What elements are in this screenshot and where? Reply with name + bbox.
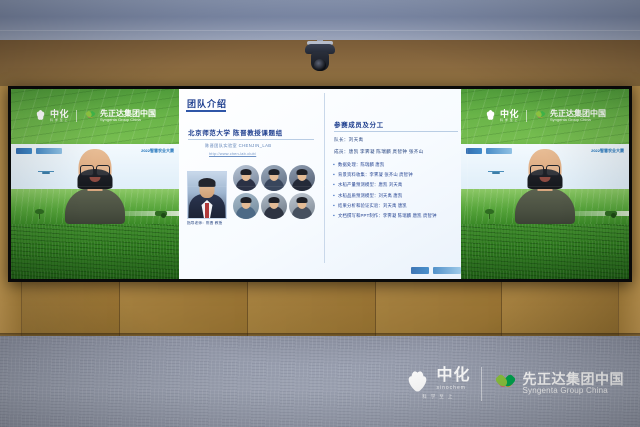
glasses-icon (80, 165, 110, 174)
member-photo-grid (233, 165, 319, 219)
brand-divider (526, 110, 527, 122)
syngenta-logo-icon: 先正达集团中国 Syngenta Group China (534, 109, 606, 122)
member-photo (261, 165, 287, 191)
advisor-block: 指导老师：陈晋 教授 (187, 171, 227, 219)
drone-icon (38, 171, 54, 175)
slide-footer-logos (411, 267, 461, 274)
lab-url[interactable]: http://www.chen-lab.club/ (209, 152, 256, 156)
feed-event-title-right: 2022智慧农业大赛 (591, 148, 624, 154)
tile-brand-bar-right: 中化 科 学 至 上 先正达集团中国 Syngenta Group China (461, 100, 629, 130)
tree-icon (35, 209, 44, 219)
participant-person-right (512, 144, 578, 224)
feed-event-title-left: 2022智慧农业大赛 (141, 148, 174, 154)
feed-logo-b-icon (486, 148, 512, 154)
sinochem-logo: 中化 sinochem 科 学 至 上 (405, 368, 470, 400)
syngenta-flower-icon (492, 371, 518, 397)
tile-brand-sub: 科 学 至 上 (500, 119, 519, 122)
brand-divider (76, 110, 77, 122)
task-item: ▪ 文档撰写和PPT制作：李霁凝 陈瑞麟 唐凯 庹智钟 (333, 214, 465, 219)
advisor-photo (187, 171, 227, 219)
tile-brand-sub: 科 学 至 上 (50, 119, 69, 122)
participant-tile-left[interactable]: 中化 科 学 至 上 先正达集团中国 Syngenta Group China (11, 89, 179, 279)
feed-logo-b-icon (36, 148, 62, 154)
glasses-icon (530, 165, 560, 174)
flower-icon (34, 110, 47, 122)
member-photo (233, 193, 259, 219)
slide-left-column: 北京师范大学 陈晋教授课题组 陈晋团队实验室 CHENJIN_LAB http:… (179, 89, 324, 279)
roster-heading: 参赛成员及分工 (334, 119, 384, 129)
syngenta-x-icon (534, 109, 547, 122)
team-members-line: 成员：唐凯 李霁凝 陈瑞麟 庹智钟 张齐山 (334, 149, 424, 155)
team-leader-line: 队长：刘天禹 (334, 137, 363, 143)
sinochem-name-en: sinochem (436, 384, 465, 392)
syngenta-x-icon (84, 109, 97, 122)
task-label: 文档撰写和PPT制作：李霁凝 陈瑞麟 唐凯 庹智钟 (338, 214, 437, 219)
lab-heading-rule (188, 139, 314, 140)
ptz-camera-icon (302, 36, 338, 76)
member-photo (289, 193, 315, 219)
task-label: 背景资料收集：李霁凝 张齐山 庹智钟 (338, 173, 413, 178)
wall-seam (323, 89, 324, 279)
logo-separator (481, 367, 482, 401)
bullet-icon: ▪ (333, 194, 335, 199)
bullet-icon: ▪ (333, 214, 335, 219)
task-label: 水稻品质预测模型：刘天禹 唐凯 (338, 194, 402, 199)
tractor-icon (149, 209, 167, 218)
task-assignment-list: ▪ 数据处理：陈瑞麟 唐凯 ▪ 背景资料收集：李霁凝 张齐山 庹智钟 ▪ 水稻产… (333, 163, 465, 224)
tile-partner-en: Syngenta Group China (550, 118, 606, 122)
bullet-icon: ▪ (333, 204, 335, 209)
tractor-icon (599, 209, 617, 218)
syngenta-name-en: Syngenta Group China (523, 387, 625, 396)
lab-heading: 北京师范大学 陈晋教授课题组 (188, 127, 283, 137)
member-photo (261, 193, 287, 219)
sinochem-logo-icon: 中化 科 学 至 上 (34, 110, 69, 122)
participant-person-left (62, 144, 128, 224)
feed-logo-a-icon (466, 148, 482, 154)
feed-logo-a-icon (16, 148, 32, 154)
wall-seam (467, 89, 468, 279)
member-photo (289, 165, 315, 191)
task-item: ▪ 数据处理：陈瑞麟 唐凯 (333, 163, 465, 168)
video-wall-surface: 中化 科 学 至 上 先正达集团中国 Syngenta Group China (11, 89, 629, 279)
advisor-caption: 指导老师：陈晋 教授 (187, 221, 231, 226)
ceiling-seam (0, 30, 640, 31)
camera-lens-icon (314, 59, 326, 71)
wall-seam (179, 89, 180, 279)
slide-logo-a-icon (411, 267, 429, 274)
task-item: ▪ 背景资料收集：李霁凝 张齐山 庹智钟 (333, 173, 465, 178)
slide-right-column: 参赛成员及分工 队长：刘天禹 成员：唐凯 李霁凝 陈瑞麟 庹智钟 张齐山 ▪ 数… (325, 89, 467, 279)
sinochem-motto: 科 学 至 上 (422, 394, 454, 400)
flower-icon (484, 110, 497, 122)
wall-seam (11, 186, 629, 187)
tile-brand-bar-left: 中化 科 学 至 上 先正达集团中国 Syngenta Group China (11, 100, 179, 130)
tile-partner-en: Syngenta Group China (100, 118, 156, 122)
drone-icon (488, 171, 504, 175)
tree-icon (485, 209, 494, 219)
lab-name-line: 陈晋团队实验室 CHENJIN_LAB (205, 143, 271, 149)
participant-video-feed-right: 2022智慧农业大赛 (461, 144, 629, 224)
task-item: ▪ 结果分析和验证实验：刘天禹 唐凯 (333, 204, 465, 209)
conference-room-scene: 中化 科 学 至 上 先正达集团中国 Syngenta Group China (0, 0, 640, 427)
member-photo (233, 165, 259, 191)
virtual-background-bottom (11, 220, 179, 279)
sinochem-flower-icon (405, 368, 431, 392)
feed-logos-right (466, 148, 512, 154)
task-label: 结果分析和验证实验：刘天禹 唐凯 (338, 204, 407, 209)
roster-heading-rule (334, 131, 458, 132)
syngenta-logo-icon: 先正达集团中国 Syngenta Group China (84, 109, 156, 122)
participant-tile-right[interactable]: 中化 科 学 至 上 先正达集团中国 Syngenta Group China (461, 89, 629, 279)
corporate-logo-bar: 中化 sinochem 科 学 至 上 先正达集团中国 Syngenta Gro… (405, 367, 624, 401)
participant-video-feed-left: 2022智慧农业大赛 (11, 144, 179, 224)
sinochem-name-cn: 中化 (436, 368, 470, 384)
task-item: ▪ 水稻品质预测模型：刘天禹 唐凯 (333, 194, 465, 199)
syngenta-logo: 先正达集团中国 Syngenta Group China (492, 371, 625, 397)
sinochem-logo-icon: 中化 科 学 至 上 (484, 110, 519, 122)
bullet-icon: ▪ (333, 173, 335, 178)
task-label: 数据处理：陈瑞麟 唐凯 (338, 163, 384, 168)
feed-logos-left (16, 148, 62, 154)
syngenta-name-cn: 先正达集团中国 (523, 372, 625, 387)
virtual-background-bottom (461, 220, 629, 279)
bullet-icon: ▪ (333, 163, 335, 168)
slide-logo-b-icon (433, 267, 461, 274)
video-wall-display[interactable]: 中化 科 学 至 上 先正达集团中国 Syngenta Group China (8, 86, 632, 282)
